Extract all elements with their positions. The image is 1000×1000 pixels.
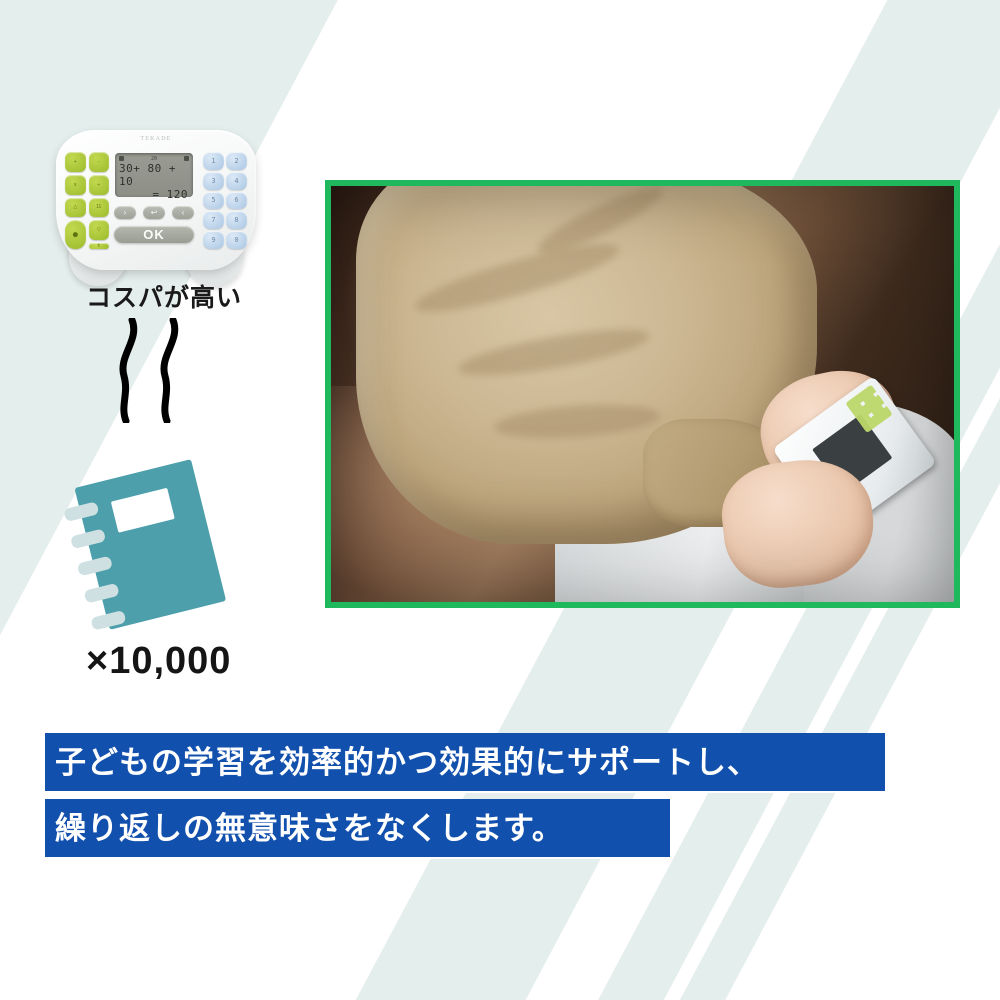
promo-slide: TEKADE 20 30+ 80 + 10 = 120 + - x ÷ △ 11… [0, 0, 1000, 1000]
device-lcd-screen: 20 30+ 80 + 10 = 120 [115, 153, 193, 197]
function-key[interactable]: ± [89, 243, 110, 249]
squiggle-connector [110, 318, 200, 428]
forward-arrow-icon[interactable]: › [114, 206, 136, 219]
number-key-8[interactable]: 8 [226, 211, 247, 229]
handheld-device: TEKADE 20 30+ 80 + 10 = 120 + - x ÷ △ 11… [56, 130, 256, 270]
signal-icon [184, 156, 189, 161]
device-body: TEKADE 20 30+ 80 + 10 = 120 + - x ÷ △ 11… [56, 130, 256, 270]
function-key-dpad[interactable]: ⬤ [65, 220, 86, 249]
lcd-status-row: 20 [118, 155, 190, 162]
number-key-7[interactable]: 7 [203, 211, 224, 229]
product-photo [331, 186, 954, 602]
notebook-multiplier-label: ×10,000 [86, 640, 231, 683]
lcd-badge: 20 [151, 156, 157, 162]
function-key[interactable]: - [89, 152, 110, 172]
function-key[interactable]: △ [65, 198, 86, 218]
return-arrow-icon[interactable]: ↩ [143, 206, 165, 219]
function-key[interactable]: + [65, 152, 86, 172]
device-arrow-row[interactable]: › ↩ ‹ [114, 206, 194, 219]
number-key-5[interactable]: 5 [203, 192, 224, 210]
function-key[interactable]: ▽ [89, 220, 110, 240]
product-photo-frame [325, 180, 960, 608]
device-brand-mark: TEKADE [140, 136, 171, 142]
notebook-icon [62, 455, 242, 630]
function-key[interactable]: x [65, 175, 86, 195]
battery-icon [119, 156, 124, 161]
number-key-1[interactable]: 1 [203, 152, 224, 170]
device-number-keypad[interactable]: 1 2 3 4 5 6 7 8 9 0 [203, 152, 247, 249]
number-key-2[interactable]: 2 [226, 152, 247, 170]
function-key[interactable]: ÷ [89, 175, 110, 195]
headline-text-1: 子どもの学習を効率的かつ効果的にサポートし、 [45, 747, 759, 778]
number-key-3[interactable]: 3 [203, 172, 224, 190]
ok-button[interactable]: OK [114, 226, 194, 243]
lcd-line-1: 30+ 80 + 10 [118, 162, 190, 188]
number-key-6[interactable]: 6 [226, 192, 247, 210]
number-key-4[interactable]: 4 [226, 172, 247, 190]
headline-text-2: 繰り返しの無意味さをなくします。 [45, 813, 564, 844]
headline-banner-line-1: 子どもの学習を効率的かつ効果的にサポートし、 [45, 733, 885, 791]
number-key-0[interactable]: 0 [226, 231, 247, 249]
number-key-9[interactable]: 9 [203, 231, 224, 249]
cost-performance-label: コスパが高い [86, 278, 242, 314]
back-arrow-icon[interactable]: ‹ [172, 206, 194, 219]
function-key[interactable]: 11 [89, 198, 110, 218]
lcd-line-2: = 120 [118, 188, 190, 201]
headline-banner-line-2: 繰り返しの無意味さをなくします。 [45, 799, 670, 857]
device-function-keypad[interactable]: + - x ÷ △ 11 ⬤ ▽ ± [65, 152, 109, 249]
photo-vignette [331, 186, 954, 602]
